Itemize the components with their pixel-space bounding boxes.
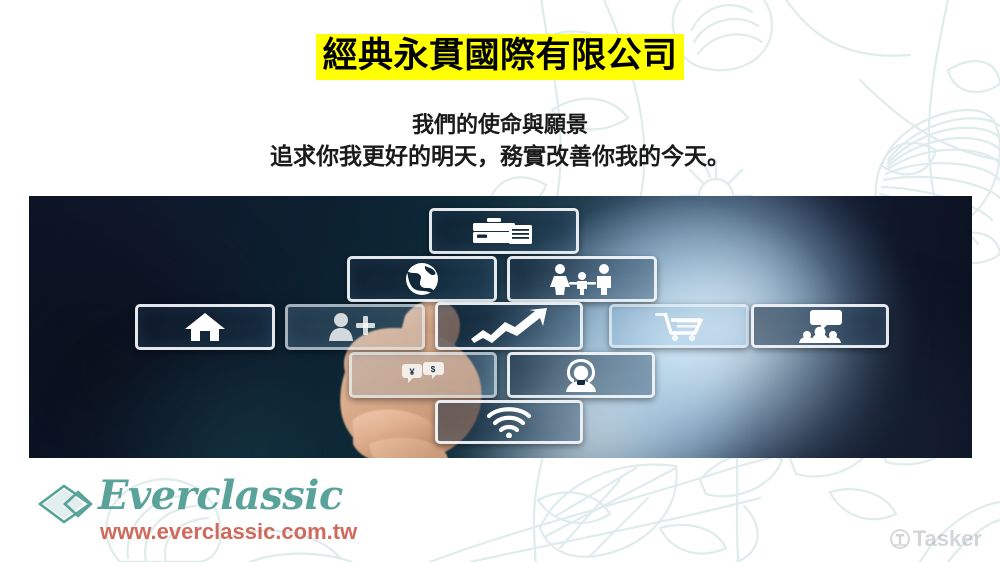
logo-wordmark: Everclassic	[98, 476, 343, 516]
tasker-watermark: Tasker	[890, 528, 982, 550]
tile-add-person[interactable]	[285, 304, 425, 350]
wifi-icon	[485, 406, 533, 438]
home-icon	[184, 311, 226, 343]
subtitle-block: 我們的使命與願景 追求你我更好的明天，務實改善你我的今天。	[0, 110, 1000, 172]
add-person-icon	[327, 312, 383, 342]
tasker-logo-icon	[890, 529, 910, 549]
tile-wifi[interactable]	[435, 400, 583, 444]
family-icon	[546, 263, 618, 295]
svg-text:¥: ¥	[409, 367, 414, 377]
community-chat-icon	[793, 309, 847, 343]
everclassic-diamond-icon	[38, 484, 96, 524]
everclassic-logo[interactable]: Everclassic www.everclassic.com.tw	[38, 480, 368, 550]
tile-briefcase-documents[interactable]	[429, 208, 579, 254]
tile-family[interactable]	[507, 256, 657, 302]
slide-canvas: 經典永貫國際有限公司 我們的使命與願景 追求你我更好的明天，務實改善你我的今天。	[0, 0, 1000, 562]
page-title-wrapper: 經典永貫國際有限公司	[0, 34, 1000, 80]
shopping-cart-icon	[653, 310, 705, 342]
tile-globe[interactable]	[347, 256, 497, 302]
subtitle-line-mission: 我們的使命與願景	[0, 110, 1000, 139]
tile-growth-chart[interactable]	[435, 302, 583, 350]
hero-image: ¥ $	[29, 196, 972, 458]
tile-money-chat[interactable]: ¥ $	[349, 352, 497, 398]
subtitle-line-vision: 追求你我更好的明天，務實改善你我的今天。	[0, 141, 1000, 172]
globe-icon	[403, 262, 441, 296]
tile-community-chat[interactable]	[751, 304, 889, 348]
logo-url: www.everclassic.com.tw	[100, 521, 357, 543]
money-chat-icon: ¥ $	[401, 362, 445, 388]
tasker-watermark-text: Tasker	[913, 528, 982, 550]
svg-text:$: $	[431, 365, 436, 374]
tile-support-agent[interactable]	[507, 352, 655, 398]
tile-shopping-cart[interactable]	[609, 304, 749, 348]
page-title: 經典永貫國際有限公司	[316, 34, 683, 80]
support-agent-icon	[558, 358, 604, 392]
tile-home[interactable]	[135, 304, 275, 350]
briefcase-documents-icon	[471, 216, 537, 246]
growth-arrow-icon	[469, 308, 549, 344]
